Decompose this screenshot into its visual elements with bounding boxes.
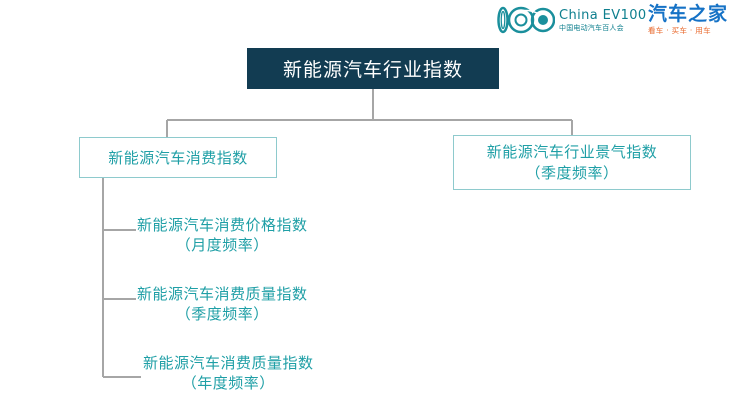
leaf-consumption-quality-index-annual[interactable]: 新能源汽车消费质量指数 （年度频率） bbox=[143, 353, 314, 394]
node-consumption-label: 新能源汽车消费指数 bbox=[108, 147, 248, 168]
china-ev100-logo-text: China EV100 中国电动汽车百人会 bbox=[559, 9, 647, 32]
node-industry-prosperity-index[interactable]: 新能源汽车行业景气指数 （季度频率） bbox=[453, 135, 691, 190]
header-logo-bar: China EV100 中国电动汽车百人会 汽车之家 看车 · 买车 · 用车 bbox=[0, 0, 744, 40]
leaf-consumption-price-frequency: （月度频率） bbox=[137, 235, 308, 255]
autohome-logo: 汽车之家 看车 · 买车 · 用车 bbox=[648, 4, 728, 36]
autohome-name: 汽车之家 bbox=[648, 5, 728, 24]
autohome-subtitle: 看车 · 买车 · 用车 bbox=[648, 27, 728, 35]
slide-canvas: China EV100 中国电动汽车百人会 汽车之家 看车 · 买车 · 用车 bbox=[0, 0, 744, 418]
leaf-consumption-price-label: 新能源汽车消费价格指数 bbox=[137, 216, 308, 234]
leaf-quality-quarterly-label: 新能源汽车消费质量指数 bbox=[137, 285, 308, 303]
leaf-quality-quarterly-frequency: （季度频率） bbox=[137, 304, 308, 324]
leaf-quality-annual-label: 新能源汽车消费质量指数 bbox=[143, 354, 314, 372]
china-ev100-logo: China EV100 中国电动汽车百人会 bbox=[497, 3, 647, 37]
node-prosperity-frequency: （季度频率） bbox=[487, 163, 658, 183]
leaf-consumption-price-index[interactable]: 新能源汽车消费价格指数 （月度频率） bbox=[137, 215, 308, 256]
node-root-industry-index[interactable]: 新能源汽车行业指数 bbox=[247, 48, 499, 89]
china-ev100-name: China EV100 bbox=[559, 9, 647, 22]
node-consumption-index[interactable]: 新能源汽车消费指数 bbox=[79, 137, 277, 178]
leaf-consumption-quality-index-quarterly[interactable]: 新能源汽车消费质量指数 （季度频率） bbox=[137, 284, 308, 325]
ev100-roundel-icon bbox=[497, 5, 555, 35]
node-prosperity-label: 新能源汽车行业景气指数 bbox=[487, 143, 658, 161]
node-root-label: 新能源汽车行业指数 bbox=[283, 55, 463, 82]
china-ev100-subtitle: 中国电动汽车百人会 bbox=[559, 25, 647, 32]
node-prosperity-text: 新能源汽车行业景气指数 （季度频率） bbox=[487, 142, 658, 183]
leaf-quality-annual-frequency: （年度频率） bbox=[143, 373, 314, 393]
